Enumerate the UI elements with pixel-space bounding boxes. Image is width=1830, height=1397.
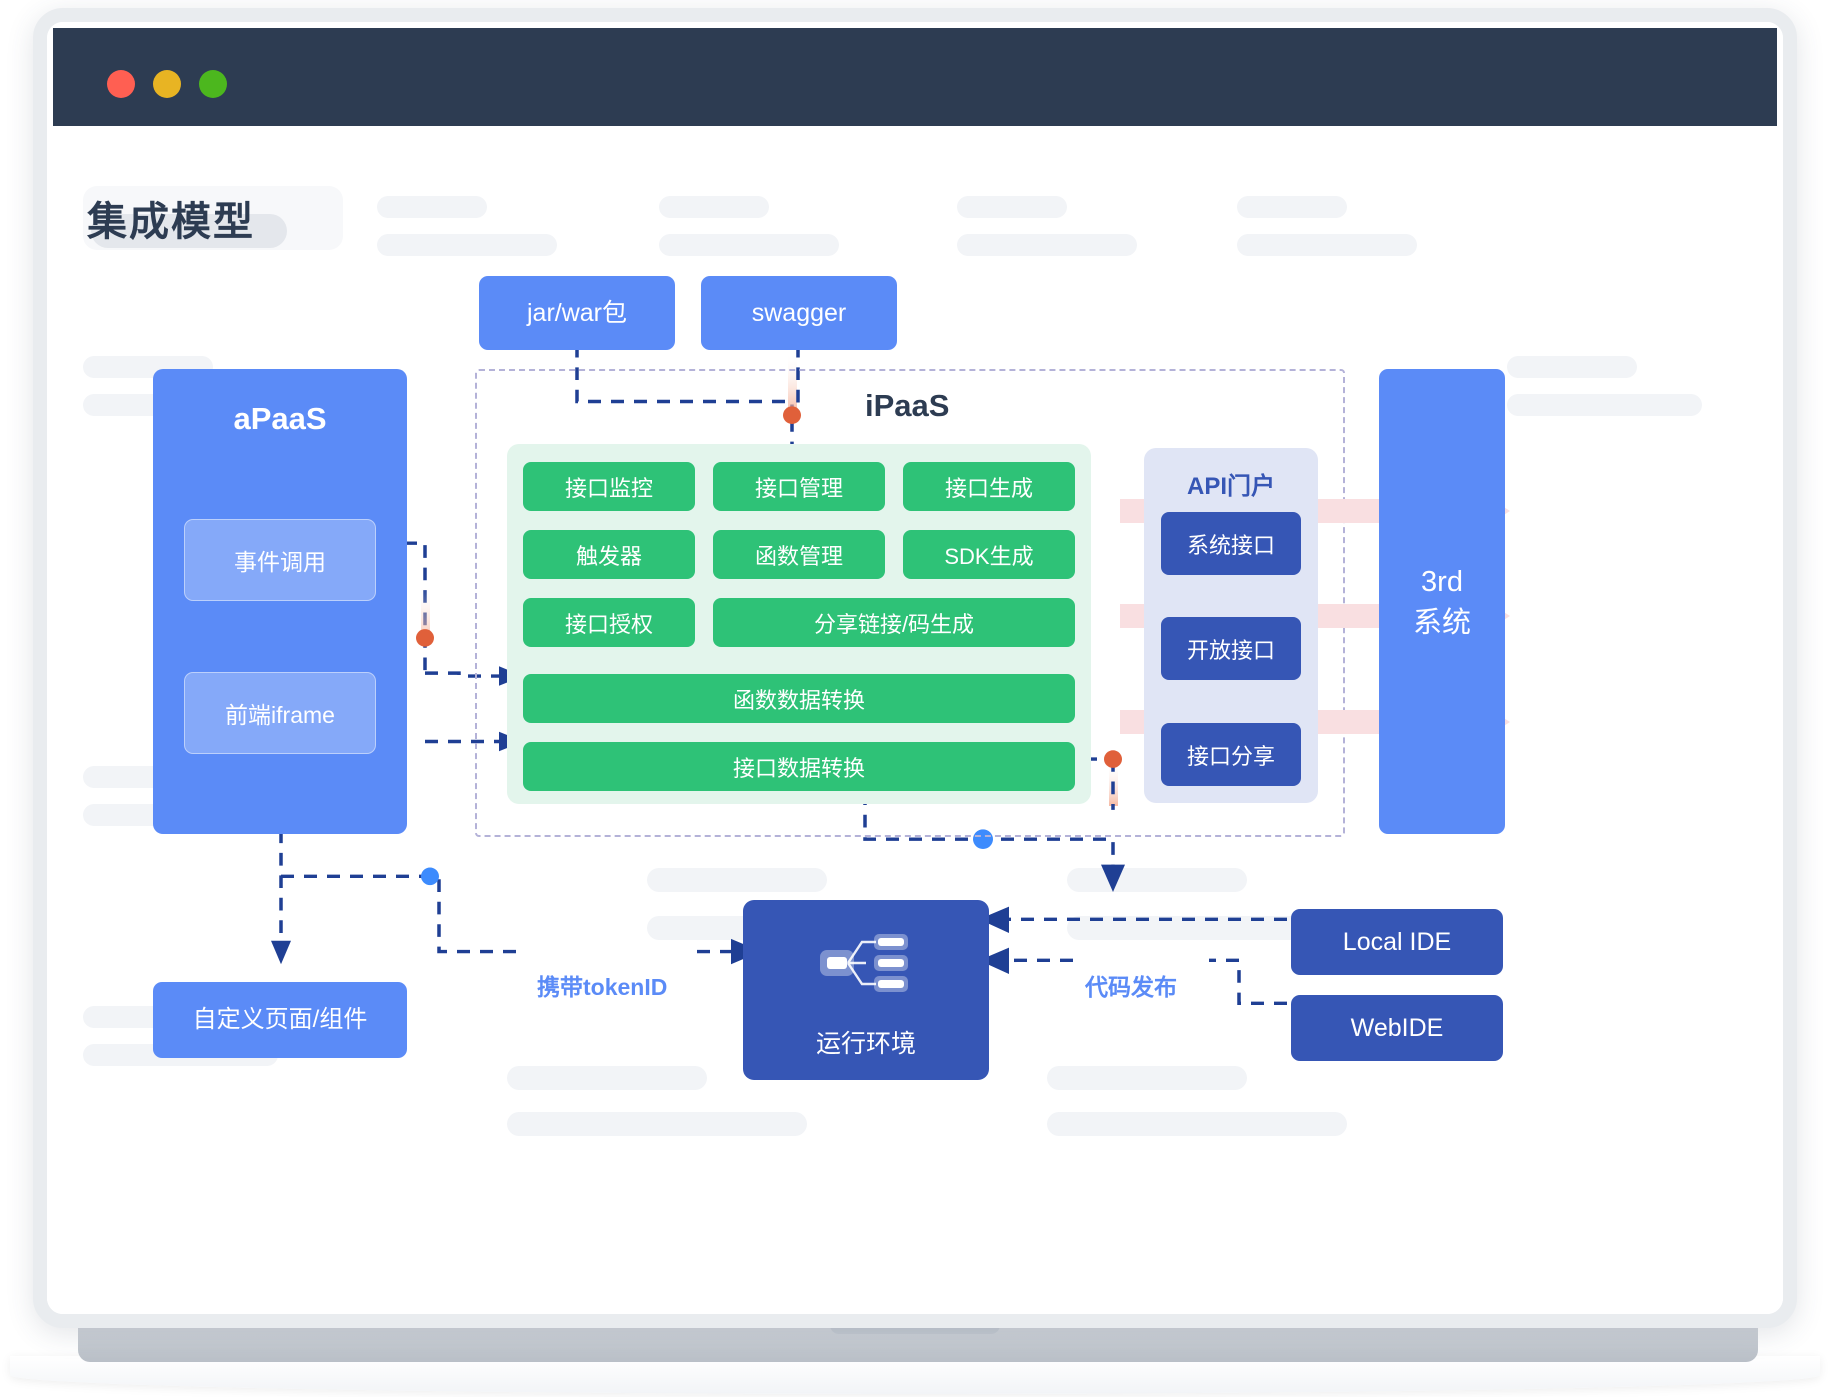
node-event-call[interactable]: 事件调用 <box>184 519 376 601</box>
node-api-data-transform[interactable]: 接口数据转换 <box>523 742 1075 791</box>
node-custom-page-component[interactable]: 自定义页面/组件 <box>153 982 407 1058</box>
panel-apaas[interactable]: aPaaS 事件调用 前端iframe <box>153 369 407 834</box>
node-trigger[interactable]: 触发器 <box>523 530 695 579</box>
close-icon[interactable] <box>107 70 135 98</box>
node-sdk-generate[interactable]: SDK生成 <box>903 530 1075 579</box>
node-jar-war-package[interactable]: jar/war包 <box>479 276 675 350</box>
panel-apaas-title: aPaaS <box>153 401 407 437</box>
node-local-ide[interactable]: Local IDE <box>1291 909 1503 975</box>
node-runtime-environment[interactable]: 运行环境 <box>743 900 989 1080</box>
node-system-api[interactable]: 系统接口 <box>1161 512 1301 575</box>
node-api-monitor[interactable]: 接口监控 <box>523 462 695 511</box>
browser-title-bar <box>53 28 1777 126</box>
device-frame: 集成模型 <box>33 8 1797 1328</box>
node-swagger[interactable]: swagger <box>701 276 897 350</box>
third-system-line2: 系统 <box>1413 605 1471 642</box>
third-system-line1: 3rd <box>1421 561 1463 605</box>
node-api-manage[interactable]: 接口管理 <box>713 462 885 511</box>
node-share-api[interactable]: 接口分享 <box>1161 723 1301 786</box>
node-third-party-system[interactable]: 3rd 系统 <box>1379 369 1505 834</box>
panel-ipaas-capabilities: 接口监控 接口管理 接口生成 触发器 函数管理 SDK生成 接口授权 分享链接/… <box>507 444 1091 804</box>
node-function-data-transform[interactable]: 函数数据转换 <box>523 674 1075 723</box>
node-function-manage[interactable]: 函数管理 <box>713 530 885 579</box>
node-web-ide[interactable]: WebIDE <box>1291 995 1503 1061</box>
node-api-auth[interactable]: 接口授权 <box>523 598 695 647</box>
panel-api-gateway-title: API门户 <box>1144 466 1318 501</box>
panel-ipaas-title: iPaaS <box>865 388 949 424</box>
node-api-generate[interactable]: 接口生成 <box>903 462 1075 511</box>
node-front-iframe[interactable]: 前端iframe <box>184 672 376 754</box>
connector-label-token: 携带tokenID <box>531 966 673 1004</box>
screen: 集成模型 <box>47 22 1783 1314</box>
maximize-icon[interactable] <box>199 70 227 98</box>
diagram-canvas: 集成模型 <box>47 126 1783 1314</box>
hierarchy-icon <box>818 930 914 1004</box>
panel-api-gateway[interactable]: API门户 系统接口 开放接口 接口分享 <box>1144 448 1318 803</box>
connector-label-deploy: 代码发布 <box>1079 966 1183 1004</box>
node-share-link[interactable]: 分享链接/码生成 <box>713 598 1075 647</box>
runtime-label: 运行环境 <box>816 1028 916 1060</box>
node-open-api[interactable]: 开放接口 <box>1161 617 1301 680</box>
minimize-icon[interactable] <box>153 70 181 98</box>
